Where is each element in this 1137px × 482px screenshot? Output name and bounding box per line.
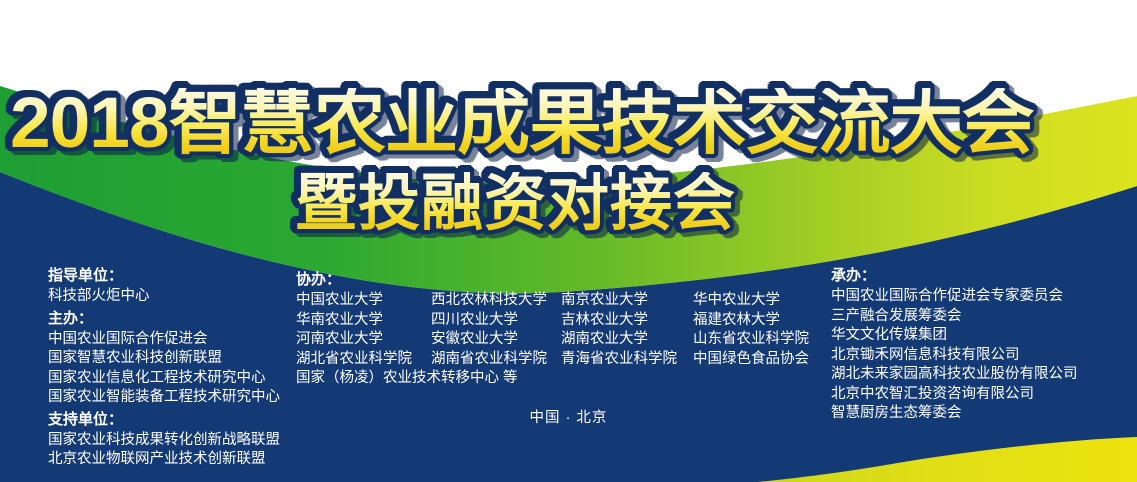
event-poster: 2018智慧农业成果技术交流大会 暨投融资对接会 指导单位： 科技部火炬中心 主… xyxy=(0,0,1137,482)
credits-column-left: 指导单位： 科技部火炬中心 主办： 中国农业国际合作促进会 国家智慧农业科技创新… xyxy=(48,266,280,470)
credit-line: 中国农业国际合作促进会 xyxy=(48,330,280,350)
co-organizer-item: 中国农业大学 xyxy=(296,291,431,311)
credit-line: 湖北未来家园高科技农业股份有限公司 xyxy=(831,365,1078,385)
co-organizer-item: 华中农业大学 xyxy=(693,291,809,311)
credit-line: 北京锄禾网信息科技有限公司 xyxy=(831,346,1078,366)
credit-heading: 主办： xyxy=(48,309,280,329)
credit-heading: 指导单位： xyxy=(48,266,280,286)
event-location: 中国 · 北京 xyxy=(0,406,1137,427)
credit-line: 国家农业信息化工程技术研究中心 xyxy=(48,369,280,389)
credit-heading: 承办： xyxy=(831,266,1078,286)
co-organizer-tail: 国家（杨凌）农业技术转移中心 等 xyxy=(296,369,809,389)
credit-line: 国家智慧农业科技创新联盟 xyxy=(48,349,280,369)
credit-group-guidance: 指导单位： 科技部火炬中心 xyxy=(48,266,280,307)
co-organizer-item: 山东省农业科学院 xyxy=(693,330,809,350)
co-organizer-item: 中国绿色食品协会 xyxy=(693,350,809,370)
credit-line: 华文文化传媒集团 xyxy=(831,326,1078,346)
credit-line: 科技部火炬中心 xyxy=(48,287,280,307)
co-organizer-item: 西北农林科技大学 xyxy=(431,291,561,311)
credit-line: 国家农业科技成果转化创新战略联盟 xyxy=(48,431,280,451)
co-organizer-item: 吉林农业大学 xyxy=(561,311,693,331)
credit-line: 国家农业智能装备工程技术研究中心 xyxy=(48,388,280,408)
credit-line: 三产融合发展筹委会 xyxy=(831,307,1078,327)
co-organizer-item: 安徽农业大学 xyxy=(431,330,561,350)
co-organizer-grid: 中国农业大学 西北农林科技大学 南京农业大学 华中农业大学 华南农业大学 四川农… xyxy=(296,291,809,369)
credit-line: 中国农业国际合作促进会专家委员会 xyxy=(831,287,1078,307)
co-organizer-item: 四川农业大学 xyxy=(431,311,561,331)
co-organizer-item: 华南农业大学 xyxy=(296,311,431,331)
co-organizer-item: 湖北省农业科学院 xyxy=(296,350,431,370)
credit-line: 北京农业物联网产业技术创新联盟 xyxy=(48,450,280,470)
co-organizer-item: 湖南农业大学 xyxy=(561,330,693,350)
co-organizer-item: 南京农业大学 xyxy=(561,291,693,311)
credits-column-right: 承办： 中国农业国际合作促进会专家委员会 三产融合发展筹委会 华文文化传媒集团 … xyxy=(831,266,1078,424)
co-organizer-item: 湖南省农业科学院 xyxy=(431,350,561,370)
credit-heading: 协办： xyxy=(296,270,809,290)
co-organizer-item: 青海省农业科学院 xyxy=(561,350,693,370)
co-organizer-item: 福建农林大学 xyxy=(693,311,809,331)
credit-group-organizer: 主办： 中国农业国际合作促进会 国家智慧农业科技创新联盟 国家农业信息化工程技术… xyxy=(48,309,280,408)
credits-column-middle: 协办： 中国农业大学 西北农林科技大学 南京农业大学 华中农业大学 华南农业大学… xyxy=(296,270,809,389)
co-organizer-item: 河南农业大学 xyxy=(296,330,431,350)
credit-line: 北京中农智汇投资咨询有限公司 xyxy=(831,385,1078,405)
